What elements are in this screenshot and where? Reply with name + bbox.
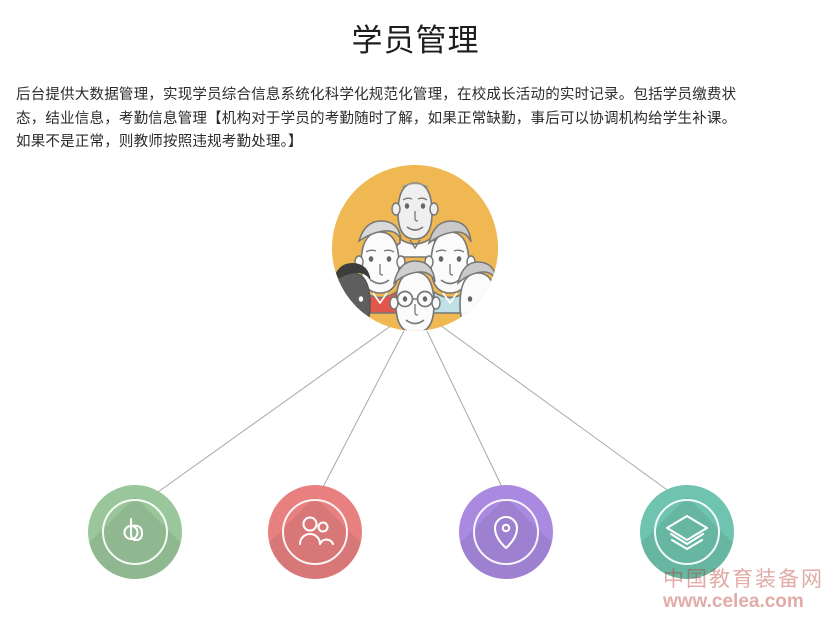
node-infinity[interactable] — [88, 485, 182, 579]
connector-line-3 — [427, 331, 502, 487]
connector-line-4 — [440, 325, 670, 492]
location-pin-icon — [482, 508, 530, 556]
node-users[interactable] — [268, 485, 362, 579]
node-location[interactable] — [459, 485, 553, 579]
students-group-illustration — [332, 165, 498, 331]
connector-line-2 — [323, 331, 404, 487]
infinity-loop-icon — [111, 508, 159, 556]
node-layers[interactable] — [640, 485, 734, 579]
person-far-right — [455, 262, 498, 331]
page-root: 学员管理 后台提供大数据管理，实现学员综合信息系统化科学化规范化管理，在校成长活… — [0, 0, 831, 617]
layers-stack-icon — [663, 508, 711, 556]
connector-line-1 — [158, 325, 392, 492]
users-group-icon — [291, 508, 339, 556]
hub-and-spoke-diagram — [0, 0, 831, 617]
